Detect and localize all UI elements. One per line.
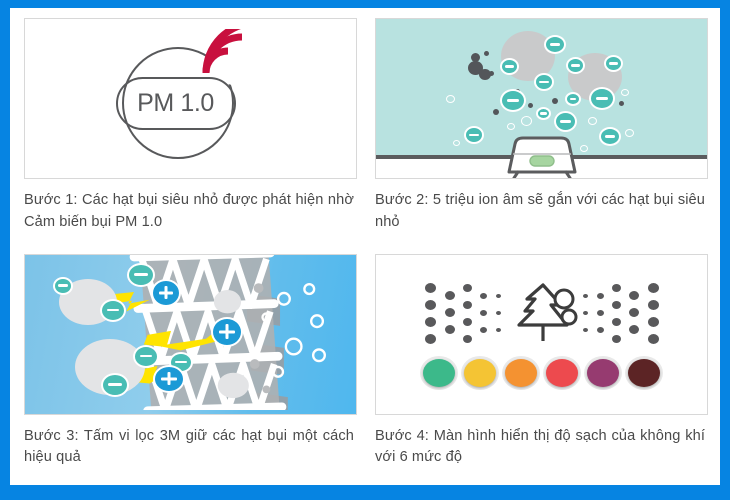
dust-dot bbox=[612, 284, 621, 292]
negative-ion-faint bbox=[446, 95, 455, 103]
level-indicator-5 bbox=[587, 359, 619, 387]
pleated-filter-mesh bbox=[25, 255, 356, 411]
dust-dot bbox=[597, 310, 604, 316]
dust-dot bbox=[597, 327, 604, 333]
negative-ion-faint bbox=[588, 117, 597, 125]
dust-dot bbox=[425, 317, 436, 327]
dust-dot bbox=[463, 284, 472, 292]
step-1-caption: Bước 1: Các hạt bụi siêu nhỏ được phát h… bbox=[24, 190, 357, 233]
negative-ion bbox=[500, 58, 519, 75]
dust-dot bbox=[629, 325, 639, 334]
positive-ion bbox=[153, 365, 185, 393]
negative-ion bbox=[554, 111, 577, 132]
dust-dot bbox=[480, 293, 487, 299]
dust-dot bbox=[425, 334, 436, 344]
negative-ion bbox=[101, 373, 129, 397]
dust-particle bbox=[528, 103, 533, 108]
level-indicator-6 bbox=[628, 359, 660, 387]
negative-ion bbox=[565, 92, 581, 106]
dust-dot bbox=[583, 294, 588, 298]
step-2-illustration bbox=[375, 18, 708, 179]
pm-value-pill: PM 1.0 bbox=[116, 77, 236, 130]
negative-ion bbox=[566, 57, 585, 74]
dust-dot bbox=[612, 335, 621, 343]
negative-ion-faint bbox=[621, 89, 629, 96]
negative-ion bbox=[53, 277, 73, 295]
step-3-illustration bbox=[24, 254, 357, 415]
dust-dot bbox=[612, 301, 621, 309]
step-card-3: Bước 3: Tấm vi lọc 3M giữ các hạt bụi mộ… bbox=[24, 254, 357, 482]
negative-ion bbox=[127, 263, 155, 287]
dust-particle bbox=[471, 53, 480, 62]
negative-ion bbox=[133, 345, 159, 368]
air-quality-level-indicators bbox=[423, 359, 660, 387]
dust-dot bbox=[648, 334, 659, 344]
dust-dot bbox=[445, 325, 455, 334]
air-purifier-device bbox=[499, 132, 585, 178]
dust-dot bbox=[496, 294, 501, 298]
dust-dot bbox=[480, 327, 487, 333]
dust-dot bbox=[480, 310, 487, 316]
positive-ion bbox=[151, 279, 181, 307]
dust-dot bbox=[629, 291, 639, 300]
dust-dot bbox=[648, 300, 659, 310]
negative-ion bbox=[544, 35, 566, 54]
dust-dot bbox=[445, 308, 455, 317]
dust-dot bbox=[496, 311, 501, 315]
steps-grid: PM 1.0 Bước 1: Các hạt bụi siêu nhỏ được… bbox=[10, 8, 720, 485]
dust-dot bbox=[629, 308, 639, 317]
negative-ion-faint bbox=[521, 116, 532, 126]
step-3-caption: Bước 3: Tấm vi lọc 3M giữ các hạt bụi mộ… bbox=[24, 426, 357, 469]
pine-tree-icon bbox=[509, 279, 583, 345]
dust-dot bbox=[597, 293, 604, 299]
negative-ion bbox=[536, 107, 551, 120]
pm-sensor-mark: PM 1.0 bbox=[116, 29, 266, 169]
step-card-1: PM 1.0 Bước 1: Các hạt bụi siêu nhỏ được… bbox=[24, 18, 357, 246]
content-sheet: PM 1.0 Bước 1: Các hạt bụi siêu nhỏ được… bbox=[10, 8, 720, 485]
display-content bbox=[376, 255, 707, 414]
dust-dot bbox=[583, 311, 588, 315]
dust-dot bbox=[648, 283, 659, 293]
level-indicator-2 bbox=[464, 359, 496, 387]
negative-ion bbox=[500, 89, 526, 112]
step-card-4: Bước 4: Màn hình hiển thị độ sạch của kh… bbox=[375, 254, 708, 482]
step-card-2: Bước 2: 5 triệu ion âm sẽ gắn với các hạ… bbox=[375, 18, 708, 246]
dust-dot bbox=[648, 317, 659, 327]
negative-ion bbox=[100, 299, 126, 322]
negative-ion bbox=[604, 55, 623, 72]
negative-ion-faint bbox=[453, 140, 460, 146]
level-indicator-1 bbox=[423, 359, 455, 387]
negative-ion bbox=[589, 87, 615, 110]
level-indicator-4 bbox=[546, 359, 578, 387]
dust-dot bbox=[425, 283, 436, 293]
positive-ion bbox=[211, 317, 243, 347]
dust-particle bbox=[619, 101, 624, 106]
negative-ion bbox=[534, 73, 554, 91]
step-1-illustration: PM 1.0 bbox=[24, 18, 357, 179]
page-frame: PM 1.0 Bước 1: Các hạt bụi siêu nhỏ được… bbox=[0, 0, 730, 500]
dust-dot bbox=[612, 318, 621, 326]
dust-dot bbox=[496, 328, 501, 332]
step-4-caption: Bước 4: Màn hình hiển thị độ sạch của kh… bbox=[375, 426, 708, 469]
negative-ion-faint bbox=[507, 123, 515, 130]
dust-particle bbox=[493, 109, 499, 115]
dust-dot bbox=[463, 301, 472, 309]
dust-dot bbox=[463, 335, 472, 343]
pm-value-label: PM 1.0 bbox=[137, 89, 214, 118]
level-indicator-3 bbox=[505, 359, 537, 387]
dust-particle bbox=[489, 71, 494, 76]
step-4-illustration bbox=[375, 254, 708, 415]
step-2-caption: Bước 2: 5 triệu ion âm sẽ gắn với các hạ… bbox=[375, 190, 708, 233]
dust-particle bbox=[484, 51, 489, 56]
negative-ion bbox=[599, 127, 621, 146]
dust-and-tree-row bbox=[417, 281, 667, 343]
negative-ion-faint bbox=[625, 129, 634, 137]
dust-dot bbox=[583, 328, 588, 332]
dust-dot bbox=[463, 318, 472, 326]
negative-ion bbox=[464, 126, 484, 144]
dust-dot bbox=[445, 291, 455, 300]
dust-particle bbox=[552, 98, 558, 104]
dust-dot bbox=[425, 300, 436, 310]
